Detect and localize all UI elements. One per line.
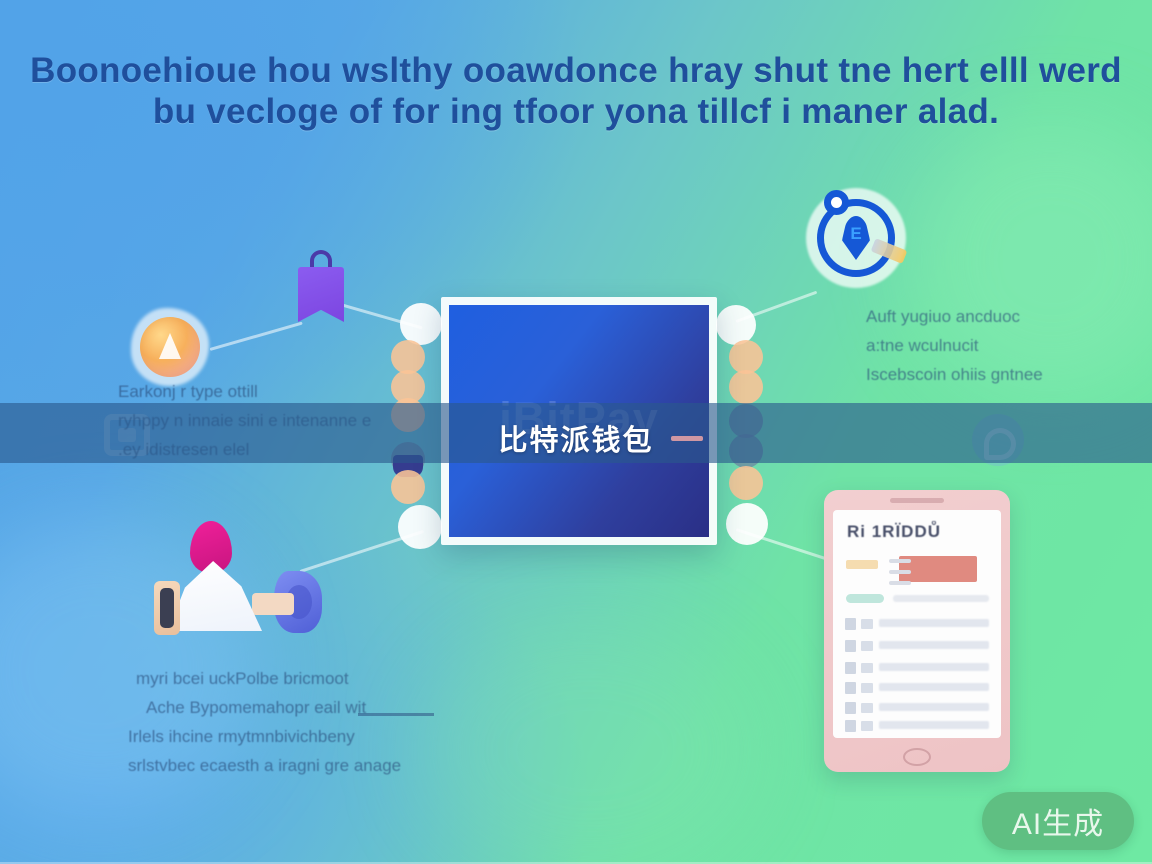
row-icon — [845, 720, 856, 732]
headline-line-1: Boonoehioue hou wslthy ooawdonce hray sh… — [30, 51, 1122, 90]
list-item[interactable] — [845, 716, 991, 736]
mockup-line — [889, 581, 911, 585]
row-text — [879, 703, 989, 711]
mockup-pill — [846, 594, 884, 603]
row-text — [879, 619, 989, 627]
node-dot — [391, 470, 425, 504]
row-icon — [845, 682, 856, 694]
node-dot — [391, 340, 425, 374]
phone-mockup: Ri 1RÏDDŮ — [824, 490, 1010, 772]
location-pin-circle-icon: E — [806, 188, 906, 288]
mockup-chip — [846, 560, 878, 569]
coin-face — [140, 317, 200, 377]
row-text — [879, 641, 989, 649]
caption-line: myri bcei uckPolbe bricmoot — [128, 664, 401, 693]
mockup-home-button[interactable] — [903, 748, 931, 766]
connector-line-coin — [210, 322, 303, 351]
node-dot — [729, 466, 763, 500]
row-icon — [845, 640, 856, 652]
caption-line: Irlels ihcine rmytmnbivichbeny — [128, 722, 401, 751]
ai-badge-label: AI生成 — [1012, 799, 1104, 843]
infographic-canvas: Boonoehioue hou wslthy ooawdonce hray sh… — [0, 0, 1152, 864]
mockup-title: Ri 1RÏDDŮ — [847, 522, 941, 542]
avatar-arm — [252, 593, 294, 615]
mockup-pill-caption — [893, 595, 989, 602]
row-icon-secondary — [861, 641, 873, 651]
list-item[interactable] — [845, 658, 991, 678]
caption-left-bottom: myri bcei uckPolbe bricmoot Ache Bypomem… — [128, 664, 401, 780]
mockup-line — [889, 570, 911, 574]
list-item[interactable] — [845, 698, 991, 718]
glow-blob-bottom — [420, 620, 760, 864]
avatar-phone — [154, 581, 180, 635]
caption-line: Iscebscoin ohiis gntnee — [866, 360, 1043, 389]
avatar-body — [168, 561, 262, 631]
caption-line: Auft yugiuo ancduoc — [866, 302, 1043, 331]
list-item[interactable] — [845, 678, 991, 698]
ai-generated-badge[interactable]: AI生成 — [982, 792, 1134, 850]
locator-bead — [824, 190, 849, 215]
token-coin-icon — [131, 308, 209, 386]
row-text — [879, 683, 989, 691]
list-item[interactable] — [845, 636, 991, 656]
mockup-screen: Ri 1RÏDDŮ — [833, 510, 1001, 738]
node-dot — [729, 340, 763, 374]
caption-line: a:tne wculnucit — [866, 331, 1043, 360]
caption-line: Ache Bypomemahopr eail wit — [128, 693, 401, 722]
caption-underline — [358, 713, 434, 716]
caption-right-top: Auft yugiuo ancduoc a:tne wculnucit Isce… — [866, 302, 1043, 389]
overlay-title: 比特派钱包 — [0, 417, 1152, 459]
row-icon-secondary — [861, 619, 873, 629]
mockup-speaker — [890, 498, 944, 503]
bag-body — [298, 267, 344, 322]
headline-line-2: bu vecloge of for ing tfoor yona tillcf … — [0, 93, 1152, 131]
shopping-bag-icon — [298, 250, 344, 322]
row-text — [879, 721, 989, 729]
node-dot — [400, 303, 442, 345]
node-dot — [729, 370, 763, 404]
row-icon-secondary — [861, 663, 873, 673]
list-item[interactable] — [845, 614, 991, 634]
page-title: Boonoehioue hou wslthy ooawdonce hray sh… — [0, 52, 1152, 131]
row-icon — [845, 618, 856, 630]
caption-line: srlstvbec ecaesth a iragni gre anage — [128, 751, 401, 780]
row-icon-secondary — [861, 721, 873, 731]
node-dot — [716, 305, 756, 345]
caption-line: Earkonj r type ottill — [118, 377, 371, 406]
row-text — [879, 663, 989, 671]
row-icon-secondary — [861, 683, 873, 693]
row-icon — [845, 662, 856, 674]
row-icon — [845, 702, 856, 714]
locator-pin-letter: E — [846, 224, 866, 244]
node-dot — [726, 503, 768, 545]
coin-glyph — [159, 333, 181, 359]
row-icon-secondary — [861, 703, 873, 713]
overlay-accent-dash — [671, 436, 703, 441]
person-avatar-icon — [146, 513, 316, 635]
mockup-line — [889, 559, 911, 563]
node-dot — [398, 505, 442, 549]
